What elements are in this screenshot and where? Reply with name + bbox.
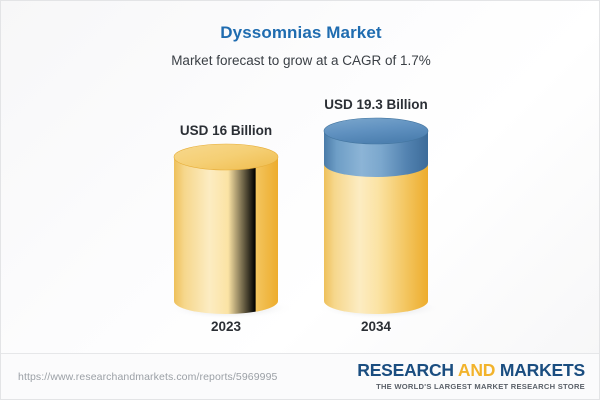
infographic-card: Dyssomnias Market Market forecast to gro… [0,0,600,400]
brand-markets-text: MARKETS [495,360,585,380]
bar-category-label-2034: 2034 [306,319,446,334]
cylinder-top-2023 [174,144,278,170]
chart-plot-area: USD 16 Billion [1,1,600,353]
brand-tagline: THE WORLD'S LARGEST MARKET RESEARCH STOR… [357,382,585,391]
cylinder-top-2034 [324,118,428,144]
cylinder-bar-2023[interactable] [156,1,296,353]
brand-wordmark: RESEARCH AND MARKETS [357,360,585,381]
cylinder-bar-2034[interactable] [306,1,446,353]
report-url[interactable]: https://www.researchandmarkets.com/repor… [18,371,277,383]
cylinder-body-base-2034 [324,164,428,314]
brand-logo[interactable]: RESEARCH AND MARKETS THE WORLD'S LARGEST… [357,360,585,391]
cylinder-body-2023 [174,157,278,314]
brand-and-text: AND [458,360,495,380]
footer: https://www.researchandmarkets.com/repor… [1,353,600,400]
brand-research-text: RESEARCH [357,360,458,380]
bar-category-label-2023: 2023 [156,319,296,334]
